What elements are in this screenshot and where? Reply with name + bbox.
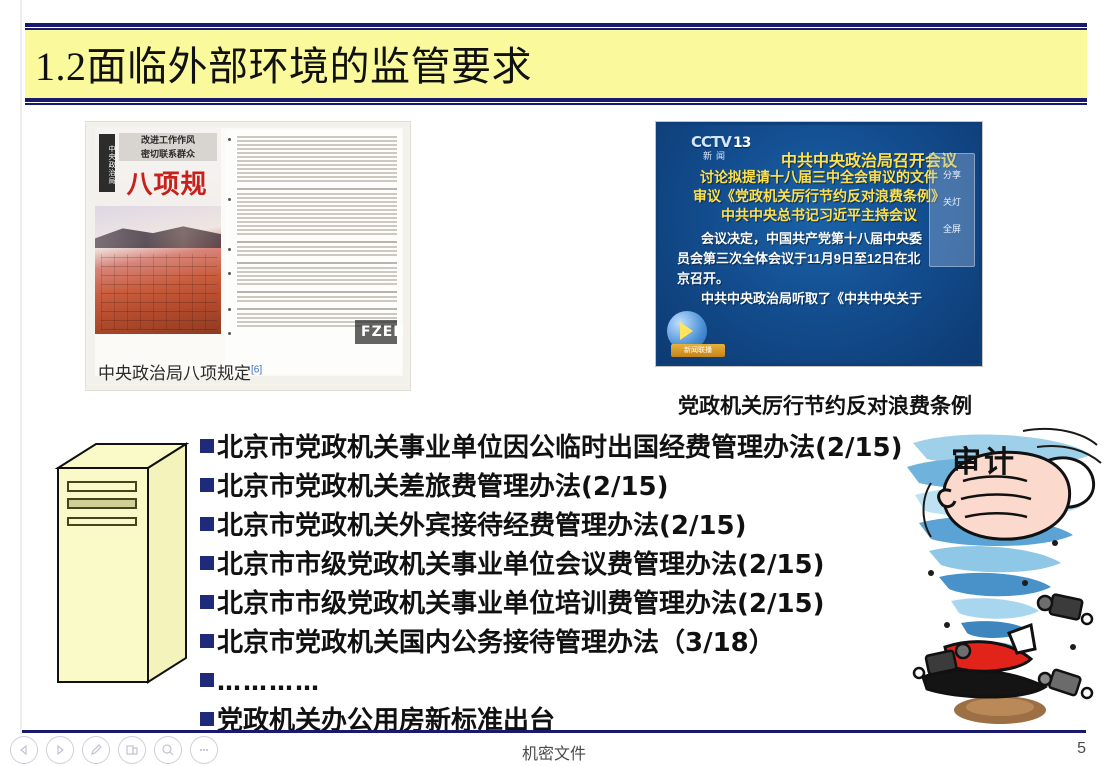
figure-cctv-news: CCTV13 新闻 中共中央政治局召开会议 讨论拟提请十八届三中全会审议的文件 …: [655, 121, 983, 367]
list-item: 北京市市级党政机关事业单位培训费管理办法(2/15): [200, 586, 960, 622]
next-slide-icon[interactable]: [46, 736, 74, 764]
black-shoe: [923, 670, 1045, 697]
page-title: 1.2面临外部环境的监管要求: [35, 34, 532, 92]
cctv-screen: CCTV13 新闻 中共中央政治局召开会议 讨论拟提请十八届三中全会审议的文件 …: [659, 125, 979, 363]
list-item: 北京市市级党政机关事业单位会议费管理办法(2/15): [200, 547, 960, 583]
camera-icon: [1038, 594, 1092, 624]
list-item: 北京市党政机关差旅费管理办法(2/15): [200, 469, 960, 505]
server-tower-illustration: [52, 440, 192, 686]
bullet-text: …………: [217, 664, 321, 700]
xinwenlianbo-badge: 新闻联播: [667, 311, 725, 357]
bullet-square-icon: [200, 517, 214, 531]
bullet-text: 北京市党政机关外宾接待经费管理办法(2/15): [217, 508, 747, 544]
slide-grid-icon[interactable]: [118, 736, 146, 764]
bullet-text: 北京市市级党政机关事业单位会议费管理办法(2/15): [217, 547, 825, 583]
cctv-body-line-3: 京召开。: [677, 269, 923, 289]
list-item: 北京市党政机关事业单位因公临时出国经费管理办法(2/15): [200, 430, 960, 466]
cctv-body-line-1: 会议决定，中国共产党第十八届中央委: [677, 229, 923, 249]
page-number: 5: [1077, 740, 1086, 758]
badge-ribbon: 新闻联播: [671, 344, 725, 357]
list-item: 党政机关办公用房新标准出台: [200, 703, 960, 739]
audit-label: 审计: [951, 437, 1017, 481]
poster-subheadline-line2: 密切联系群众: [119, 147, 217, 161]
slide-title-banner: 1.2面临外部环境的监管要求: [25, 23, 1087, 105]
list-item: 北京市党政机关外宾接待经费管理办法(2/15): [200, 508, 960, 544]
camera-icon: [1039, 669, 1092, 698]
newspaper-clipping: 中央政治局 改进工作作风 密切联系群众 八项规定: [95, 128, 403, 376]
cctv-body-line-2: 员会第三次全体会议于11月9日至12日在北: [677, 249, 923, 269]
slide-left-edge-bar: [20, 0, 26, 735]
zoom-tool-icon[interactable]: [154, 736, 182, 764]
figure-left-caption-ref: [6]: [251, 364, 262, 375]
title-rule-top: [25, 23, 1087, 30]
bullet-text: 北京市党政机关事业单位因公临时出国经费管理办法(2/15): [217, 430, 903, 466]
presentation-slide: 1.2面临外部环境的监管要求 中央政治局 改进工作作风 密切联系群众 八项规定: [0, 0, 1108, 766]
title-rule-bottom: [25, 98, 1087, 105]
presentation-toolbar[interactable]: [10, 736, 218, 764]
slide-bottom-rule: [22, 730, 1086, 733]
bullet-text: 党政机关办公用房新标准出台: [217, 703, 555, 739]
lights-off-button[interactable]: 关灯: [930, 195, 974, 208]
list-item: 北京市党政机关国内公务接待管理办法（3/18）: [200, 625, 960, 661]
bullet-square-icon: [200, 556, 214, 570]
bullet-text: 北京市党政机关差旅费管理办法(2/15): [217, 469, 669, 505]
video-player-sidebar: 分享 关灯 全屏: [929, 153, 975, 267]
figure-left-caption-text: 中央政治局八项规定: [98, 364, 251, 383]
list-item: …………: [200, 664, 960, 700]
poster-vertical-banner: 中央政治局: [99, 134, 115, 192]
more-options-icon[interactable]: [190, 736, 218, 764]
play-triangle-icon: [680, 322, 693, 340]
poster-subheadline: 改进工作作风 密切联系群众: [119, 133, 217, 161]
pen-tool-icon[interactable]: [82, 736, 110, 764]
audit-tornado-illustration: 审计: [905, 425, 1105, 730]
bullet-square-icon: [200, 634, 214, 648]
share-button[interactable]: 分享: [930, 168, 974, 181]
bullet-square-icon: [200, 439, 214, 453]
cctv-body-line-4: 中共中央政治局听取了《中共中央关于: [677, 289, 923, 309]
poster-panel: 中央政治局 改进工作作风 密切联系群众 八项规定: [95, 128, 221, 334]
previous-slide-icon[interactable]: [10, 736, 38, 764]
figure-left-caption: 中央政治局八项规定[6]: [98, 359, 262, 384]
newspaper-watermark: FZEN: [355, 320, 397, 344]
great-wall-photo: [95, 206, 221, 334]
bullet-square-icon: [200, 478, 214, 492]
poster-subheadline-line1: 改进工作作风: [119, 133, 217, 147]
bullet-text: 北京市市级党政机关事业单位培训费管理办法(2/15): [217, 586, 825, 622]
bullet-text: 北京市党政机关国内公务接待管理办法（3/18）: [217, 625, 775, 661]
badge-ribbon-text: 新闻联播: [671, 344, 725, 357]
newspaper-text-columns: FZEN: [225, 130, 401, 374]
bullet-square-icon: [200, 673, 214, 687]
cctv-body-text: 会议决定，中国共产党第十八届中央委 员会第三次全体会议于11月9日至12日在北 …: [677, 229, 923, 309]
fullscreen-button[interactable]: 全屏: [930, 222, 974, 235]
figure-eight-regulations: 中央政治局 改进工作作风 密切联系群众 八项规定: [85, 121, 411, 391]
figure-right-caption: 党政机关厉行节约反对浪费条例: [655, 390, 995, 420]
bullet-square-icon: [200, 595, 214, 609]
policy-bullet-list: 北京市党政机关事业单位因公临时出国经费管理办法(2/15) 北京市党政机关差旅费…: [200, 430, 960, 742]
bullet-square-icon: [200, 712, 214, 726]
server-tower-svg: [52, 440, 192, 686]
